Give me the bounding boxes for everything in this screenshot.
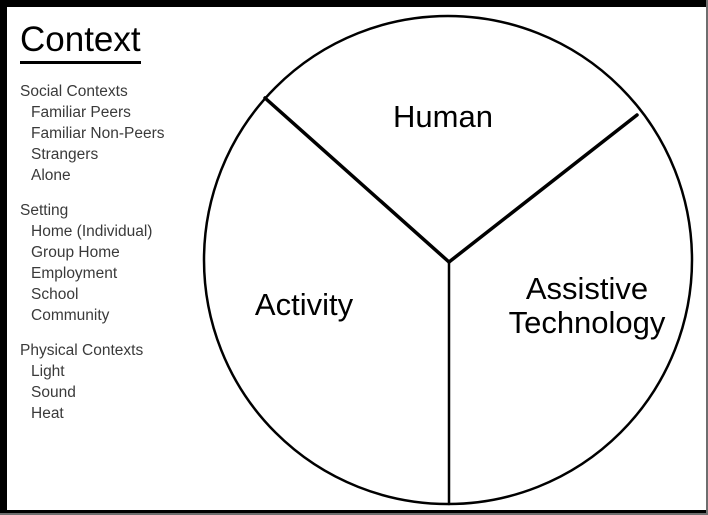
context-list-item: Employment [20,263,220,284]
context-group-list: Social ContextsFamiliar PeersFamiliar No… [20,81,220,424]
context-list-item: Sound [20,382,220,403]
context-list-item: Home (Individual) [20,221,220,242]
context-figure: Human Activity Assistive Technology Cont… [0,0,708,515]
context-list-item: School [20,284,220,305]
context-list-item: Heat [20,403,220,424]
context-group: Physical ContextsLightSoundHeat [20,340,220,424]
segment-label-activity: Activity [204,288,404,322]
context-list-item: Group Home [20,242,220,263]
context-list-item: Community [20,305,220,326]
context-group-heading: Social Contexts [20,81,220,102]
context-list-item: Strangers [20,144,220,165]
segment-label-human: Human [343,100,543,134]
context-list-item: Familiar Peers [20,102,220,123]
context-group: SettingHome (Individual)Group HomeEmploy… [20,200,220,326]
segment-label-assistive-technology: Assistive Technology [487,272,687,340]
context-panel: Context Social ContextsFamiliar PeersFam… [20,20,220,424]
context-panel-title: Context [20,20,141,64]
context-group-heading: Physical Contexts [20,340,220,361]
context-group-heading: Setting [20,200,220,221]
context-list-item: Alone [20,165,220,186]
context-list-item: Familiar Non-Peers [20,123,220,144]
context-group: Social ContextsFamiliar PeersFamiliar No… [20,81,220,186]
context-list-item: Light [20,361,220,382]
